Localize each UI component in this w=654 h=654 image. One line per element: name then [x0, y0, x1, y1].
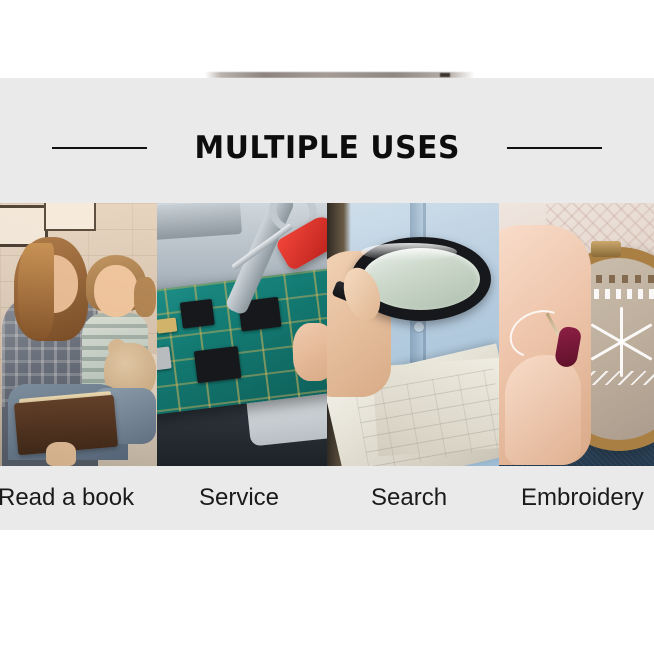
embroidery-hoop-photo	[499, 203, 654, 466]
magnifying-glass-document-photo	[327, 203, 499, 466]
gallery-label-embroidery: Embroidery	[521, 466, 644, 530]
shield-can-component	[157, 346, 172, 371]
technician-hand-shape	[293, 323, 327, 381]
snowflake-embroidery-motif	[585, 307, 654, 377]
cropped-image-edge-mark	[440, 73, 450, 77]
page-title: MULTIPLE USES	[194, 130, 460, 166]
gallery-item-embroidery[interactable]	[499, 203, 654, 466]
circuit-board-repair-photo	[157, 203, 327, 466]
gallery-label-read-a-book: Read a book	[0, 466, 134, 530]
gallery-item-search[interactable]	[327, 203, 499, 466]
warm-color-grade-overlay	[0, 203, 157, 466]
chip-component	[180, 299, 215, 329]
gold-contact-component	[157, 317, 177, 333]
gallery-label-search: Search	[371, 466, 447, 530]
bottom-white-margin	[0, 530, 654, 654]
gallery-label-row: Read a book Service Search Embroidery	[0, 466, 654, 530]
page-title-row: MULTIPLE USES	[0, 118, 654, 178]
fingers-shape	[505, 355, 581, 465]
hoop-tension-screw-shape	[591, 241, 621, 257]
gallery-item-service[interactable]	[157, 203, 327, 466]
gallery-item-read-a-book[interactable]	[0, 203, 157, 466]
shirt-button-icon	[413, 321, 425, 333]
mother-and-child-reading-book-photo	[0, 203, 157, 466]
top-white-margin	[0, 0, 654, 78]
title-rule-left-icon	[52, 147, 147, 149]
title-rule-right-icon	[507, 147, 602, 149]
gallery-strip	[0, 203, 654, 466]
chip-component	[194, 346, 242, 383]
magnifier-glare-shape	[361, 243, 457, 261]
bench-clamp-shape	[157, 203, 242, 240]
gallery-label-service: Service	[199, 466, 279, 530]
